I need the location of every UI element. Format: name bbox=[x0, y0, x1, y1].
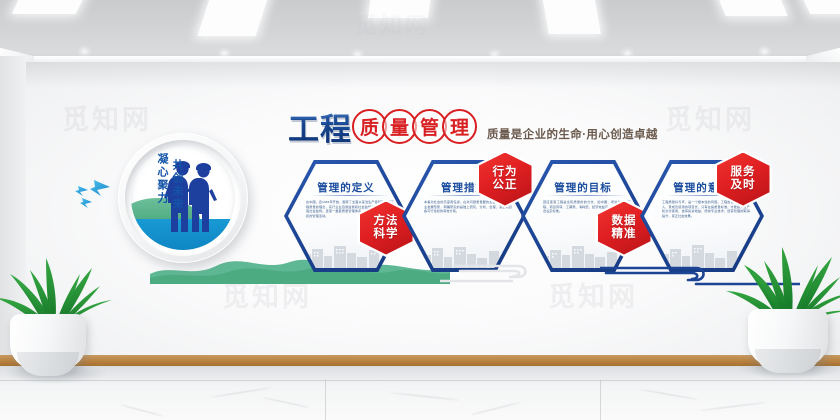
floor-seam bbox=[600, 380, 601, 420]
potted-plant-right bbox=[736, 245, 840, 377]
marble-vein bbox=[121, 404, 164, 416]
hex-red-line2: 科学 bbox=[374, 228, 399, 240]
hex-title-divider bbox=[547, 195, 627, 196]
floor-seam bbox=[325, 380, 326, 420]
marble-vein bbox=[390, 392, 460, 400]
wall-culture-scene: 觅知网 觅知网 觅知网 觅知网 觅知网 bbox=[0, 0, 840, 420]
hex-red-label: 方法 科学 bbox=[374, 215, 399, 241]
hex-red-line2: 公正 bbox=[493, 179, 518, 191]
hex-red-line2: 精准 bbox=[612, 228, 637, 240]
floor-reflection bbox=[0, 366, 840, 386]
marble-vein bbox=[210, 387, 271, 398]
potted-plant-left bbox=[0, 252, 110, 380]
hex-red-line1: 服务 bbox=[731, 166, 756, 178]
hex-red-line1: 行为 bbox=[493, 166, 518, 178]
hex-red-line1: 方法 bbox=[374, 215, 399, 227]
hex-red-badge[interactable]: 服务 及时 bbox=[714, 150, 772, 208]
baseboard bbox=[0, 355, 840, 366]
hex-red-line1: 数据 bbox=[612, 215, 637, 227]
marble-vein bbox=[471, 402, 522, 416]
hex-red-line2: 及时 bbox=[731, 179, 756, 191]
white-decor-line bbox=[440, 258, 550, 288]
hex-red-label: 服务 及时 bbox=[731, 166, 756, 192]
hex-red-label: 数据 精准 bbox=[612, 215, 637, 241]
marble-vein bbox=[262, 397, 309, 408]
hex-title-divider bbox=[310, 195, 390, 196]
marble-vein bbox=[700, 402, 766, 411]
marble-vein bbox=[640, 389, 697, 400]
hex-red-label: 行为 公正 bbox=[493, 166, 518, 192]
